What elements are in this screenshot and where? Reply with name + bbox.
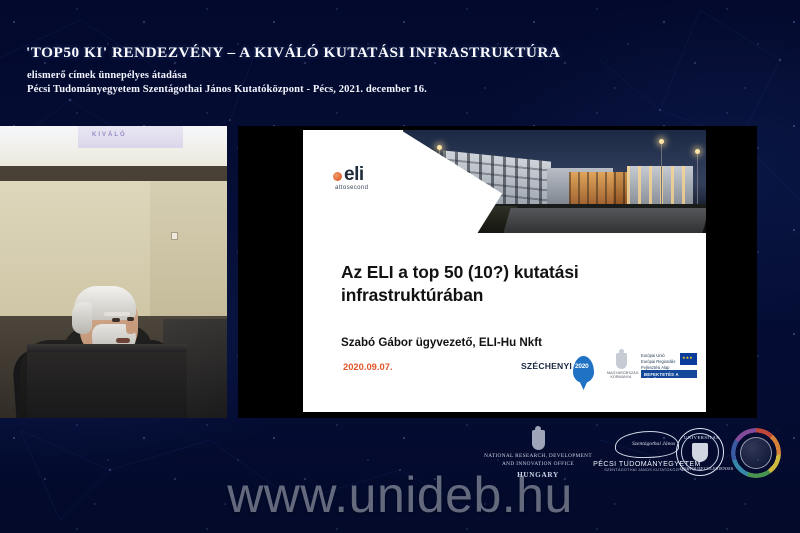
szechenyi-pin-icon: 2020: [573, 356, 594, 383]
hungary-crest-icon: [532, 430, 545, 450]
szechenyi-2020-logo: SZÉCHENYI 2020: [521, 357, 593, 379]
speaker-eyebrow: [104, 312, 130, 316]
wall-switch: [171, 232, 178, 240]
eli-logo: eli attosecond: [333, 163, 391, 197]
room-wall-band: [0, 166, 227, 181]
eli-logo-text: eli: [344, 164, 364, 186]
eli-dot-icon: [333, 172, 342, 181]
slide-header-band: eli attosecond: [303, 130, 706, 233]
eu-banner: BEFEKTETÉS A JÖVŐBE: [641, 370, 697, 378]
slide-date: 2020.09.07.: [343, 361, 393, 372]
photo-streetlamp-3: [697, 152, 698, 204]
slide-heading: Az ELI a top 50 (10?) kutatási infrastru…: [341, 261, 671, 306]
header-subtitle-1: elismerő címek ünnepélyes átadása: [27, 70, 187, 81]
page-title: 'TOP50 KI' RENDEZVÉNY – A KIVÁLÓ KUTATÁS…: [26, 44, 560, 62]
projection-screen: KIVÁLÓ: [78, 126, 183, 148]
eu-fund-text: Európai Unió Európai Regionális Fejleszt…: [641, 353, 675, 371]
event-header: 'TOP50 KI' RENDEZVÉNY – A KIVÁLÓ KUTATÁS…: [0, 0, 800, 118]
pte-script-text: Szentágothai János: [632, 441, 675, 447]
slide-body: Az ELI a top 50 (10?) kutatási infrastru…: [303, 233, 706, 412]
hungary-government-label: MAGYARORSZÁG KORMÁNYA: [607, 371, 635, 380]
szechenyi-label: SZÉCHENYI: [521, 361, 572, 371]
hungary-crest-icon: [616, 353, 627, 369]
eu-banner-label: BEFEKTETÉS A JÖVŐBE: [644, 372, 697, 382]
pte-swirl-icon: Szentágothai János: [615, 431, 679, 458]
eu-line-2: Európai Regionális: [641, 359, 675, 364]
slide-video-pane[interactable]: eli attosecond Az ELI a top 50 (10?) kut…: [238, 126, 757, 418]
header-subtitle-2: Pécsi Tudományegyetem Szentágothai János…: [27, 84, 427, 95]
video-stage: 'TOP50 KI' RENDEZVÉNY – A KIVÁLÓ KUTATÁS…: [0, 0, 800, 533]
speaker-nose: [126, 321, 137, 334]
presentation-slide: eli attosecond Az ELI a top 50 (10?) kut…: [303, 130, 706, 412]
eu-line-1: Európai Unió: [641, 353, 665, 358]
eu-flag-icon: [680, 353, 697, 365]
speaker-mouth: [116, 338, 130, 343]
speaker-eye-left: [112, 318, 120, 322]
speaker-video-pane[interactable]: KIVÁLÓ: [0, 126, 227, 418]
projection-screen-text: KIVÁLÓ: [92, 132, 127, 138]
nrdi-line-1: NATIONAL RESEARCH, DEVELOPMENT: [484, 453, 592, 459]
eli-logo-tagline: attosecond: [335, 185, 368, 191]
podium: [27, 344, 187, 418]
hungary-government-logo: MAGYARORSZÁG KORMÁNYA: [607, 353, 635, 385]
seal-top-text: UNIVERSITAS: [684, 435, 716, 440]
photo-streetlamp-2: [661, 142, 662, 204]
slide-presenter: Szabó Gábor ügyvezető, ELI-Hu Nkft: [341, 336, 542, 349]
watermark: www.unideb.hu: [0, 466, 800, 524]
seal-shield-icon: [692, 443, 708, 462]
photo-building-right: [627, 166, 693, 206]
european-union-logo: Európai Unió Európai Regionális Fejleszt…: [641, 353, 697, 385]
szechenyi-year: 2020: [575, 363, 588, 370]
room-wall-right: [150, 181, 227, 316]
speaker-hair-side: [72, 302, 92, 334]
photo-road: [503, 208, 706, 233]
slide-funding-logos: SZÉCHENYI 2020 MAGYARORSZÁG KORMÁNYA Eur…: [521, 351, 696, 387]
colored-ring-inner: [740, 437, 772, 469]
